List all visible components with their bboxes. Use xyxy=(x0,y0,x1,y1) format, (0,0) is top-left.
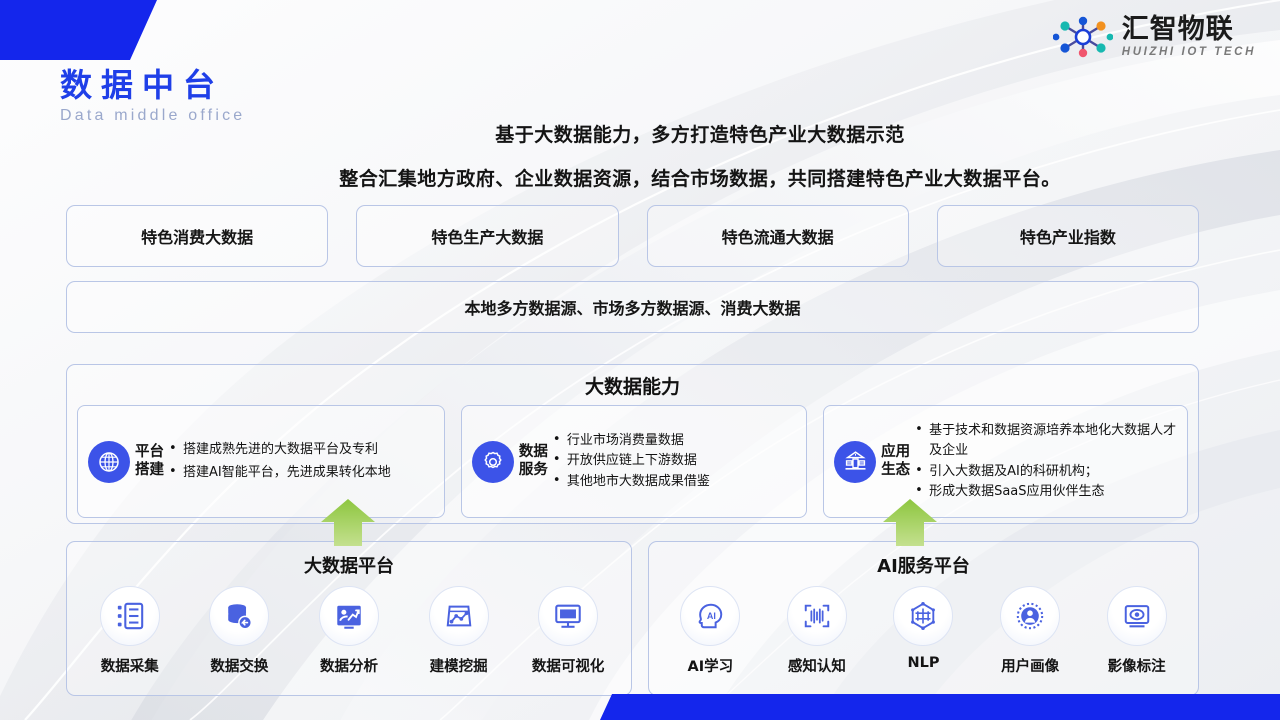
bank-building-icon xyxy=(834,441,876,483)
capability-label-line-1: 应用 xyxy=(881,444,910,462)
platform-item-model-mining[interactable]: 建模挖掘 xyxy=(407,586,511,676)
top-box-circulation[interactable]: 特色流通大数据 xyxy=(647,205,909,267)
bullet-item: 形成大数据SaaS应用伙伴生态 xyxy=(914,482,1180,502)
headline-line-2: 整合汇集地方政府、企业数据资源，结合市场数据，共同搭建特色产业大数据平台。 xyxy=(190,164,1210,191)
image-annotation-icon xyxy=(1107,586,1167,646)
capability-panel-title: 大数据能力 xyxy=(67,372,1198,399)
top-category-row: 特色消费大数据 特色生产大数据 特色流通大数据 特色产业指数 xyxy=(66,205,1199,267)
capability-card-data-service[interactable]: 数据 服务 行业市场消费量数据 开放供应链上下游数据 其他地市大数据成果借鉴 xyxy=(461,405,807,518)
capability-card-label: 应用 生态 xyxy=(881,444,910,479)
bullet-item: 开放供应链上下游数据 xyxy=(552,451,799,471)
gear-icon xyxy=(472,441,514,483)
up-arrow-right-icon xyxy=(877,498,943,546)
ai-item-perception-cognition[interactable]: 感知认知 xyxy=(765,586,869,676)
platform-icon-row: 数据采集 数据交换 xyxy=(67,586,631,676)
ai-item-image-annotation[interactable]: 影像标注 xyxy=(1085,586,1189,676)
ai-item-ai-learning[interactable]: AI AI学习 xyxy=(658,586,762,676)
top-box-production[interactable]: 特色生产大数据 xyxy=(356,205,618,267)
bullet-item: 搭建AI智能平台，先进成果转化本地 xyxy=(168,462,437,484)
capability-card-platform-build[interactable]: 平台 搭建 搭建成熟先进的大数据平台及专利 搭建AI智能平台，先进成果转化本地 xyxy=(77,405,445,518)
platform-panel-title: 大数据平台 xyxy=(67,552,631,578)
capability-bullet-list: 搭建成熟先进的大数据平台及专利 搭建AI智能平台，先进成果转化本地 xyxy=(168,439,437,484)
big-data-platform-panel: 大数据平台 数据采集 xyxy=(66,541,632,696)
ai-head-icon: AI xyxy=(680,586,740,646)
top-box-consumption[interactable]: 特色消费大数据 xyxy=(66,205,328,267)
headline-line-1: 基于大数据能力，多方打造特色产业大数据示范 xyxy=(190,120,1210,147)
ai-item-label: 用户画像 xyxy=(1001,655,1059,676)
headline-block: 基于大数据能力，多方打造特色产业大数据示范 整合汇集地方政府、企业数据资源，结合… xyxy=(190,120,1210,191)
platform-item-data-exchange[interactable]: 数据交换 xyxy=(187,586,291,676)
corner-accent-shape xyxy=(0,0,170,60)
user-profile-icon xyxy=(1000,586,1060,646)
page-title-cn: 数据中台 xyxy=(60,68,245,103)
platform-item-data-collection[interactable]: 数据采集 xyxy=(78,586,182,676)
bullet-item: 引入大数据及AI的科研机构； xyxy=(914,462,1180,482)
bullet-item: 行业市场消费量数据 xyxy=(552,431,799,451)
nlp-network-icon xyxy=(893,586,953,646)
top-box-industry-index[interactable]: 特色产业指数 xyxy=(937,205,1199,267)
bullet-item: 搭建成熟先进的大数据平台及专利 xyxy=(168,439,437,461)
bottom-accent-bar xyxy=(0,694,1280,720)
scan-perception-icon xyxy=(787,586,847,646)
capability-label-line-1: 平台 xyxy=(135,444,164,462)
brand-logo: 汇智物联 HUIZHI IOT TECH xyxy=(1053,10,1256,64)
page-title: 数据中台 Data middle office xyxy=(60,68,245,125)
platform-item-label: 建模挖掘 xyxy=(430,655,488,676)
capability-card-label: 平台 搭建 xyxy=(135,444,164,479)
model-mining-icon xyxy=(429,586,489,646)
molecule-network-icon xyxy=(1053,15,1113,59)
platform-item-label: 数据可视化 xyxy=(532,655,605,676)
database-exchange-icon xyxy=(209,586,269,646)
platform-item-label: 数据采集 xyxy=(101,655,159,676)
ai-service-platform-panel: AI服务平台 AI AI学习 xyxy=(648,541,1199,696)
ai-item-nlp[interactable]: NLP xyxy=(871,586,975,676)
big-data-capability-panel: 大数据能力 平台 搭建 xyxy=(66,364,1199,524)
bullet-item: 其他地市大数据成果借鉴 xyxy=(552,472,799,492)
ai-item-label: 影像标注 xyxy=(1108,655,1166,676)
ai-item-label: AI学习 xyxy=(687,655,733,676)
capability-label-line-2: 服务 xyxy=(519,462,548,480)
logo-title-cn: 汇智物联 xyxy=(1122,16,1256,44)
ai-item-label: 感知认知 xyxy=(788,655,846,676)
capability-label-line-1: 数据 xyxy=(519,444,548,462)
capability-bullet-list: 基于技术和数据资源培养本地化大数据人才及企业 引入大数据及AI的科研机构； 形成… xyxy=(914,421,1180,502)
platform-panel-title: AI服务平台 xyxy=(649,552,1198,578)
bullet-item: 基于技术和数据资源培养本地化大数据人才及企业 xyxy=(914,421,1180,461)
capability-card-label: 数据 服务 xyxy=(519,444,548,479)
capability-label-line-2: 搭建 xyxy=(135,462,164,480)
platform-item-data-visualization[interactable]: 数据可视化 xyxy=(516,586,620,676)
data-source-bar[interactable]: 本地多方数据源、市场多方数据源、消费大数据 xyxy=(66,281,1199,333)
monitor-visual-icon xyxy=(538,586,598,646)
platform-item-label: 数据交换 xyxy=(210,655,268,676)
svg-text:AI: AI xyxy=(707,611,716,621)
capability-bullet-list: 行业市场消费量数据 开放供应链上下游数据 其他地市大数据成果借鉴 xyxy=(552,431,799,491)
chart-analysis-icon xyxy=(319,586,379,646)
ai-item-user-profile[interactable]: 用户画像 xyxy=(978,586,1082,676)
ai-item-label: NLP xyxy=(907,655,939,671)
platform-icon-row: AI AI学习 xyxy=(649,586,1198,676)
globe-icon xyxy=(88,441,130,483)
capability-label-line-2: 生态 xyxy=(881,462,910,480)
platform-item-data-analysis[interactable]: 数据分析 xyxy=(297,586,401,676)
list-collect-icon xyxy=(100,586,160,646)
platform-item-label: 数据分析 xyxy=(320,655,378,676)
up-arrow-left-icon xyxy=(315,498,381,546)
logo-title-en: HUIZHI IOT TECH xyxy=(1122,46,1256,58)
